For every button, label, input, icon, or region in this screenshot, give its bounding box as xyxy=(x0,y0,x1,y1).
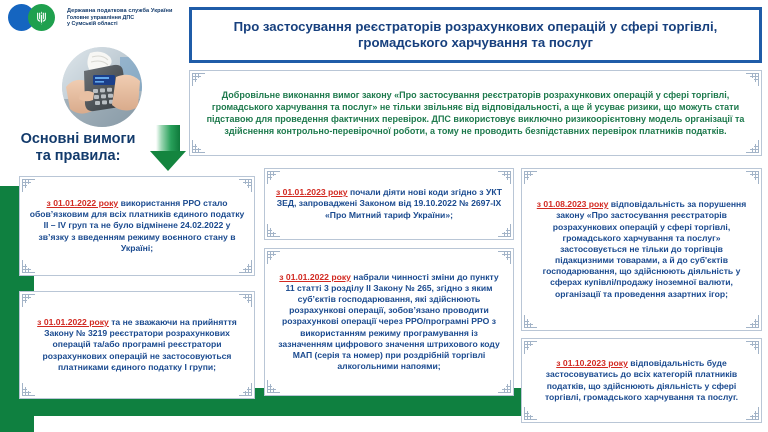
ornament-bottom-right-icon xyxy=(498,380,511,393)
banner-text: Основні вимоги та правила: xyxy=(4,131,152,164)
logo-circle-green xyxy=(28,4,55,31)
requirement-date: з 01.08.2023 року xyxy=(537,199,609,209)
requirement-card: з 01.01.2023 року почали діяти нові коди… xyxy=(264,168,514,240)
requirement-body: відповідальність за порушення закону «Пр… xyxy=(543,199,747,298)
ornament-bottom-left-icon xyxy=(524,315,537,328)
page-title: Про застосування реєстраторів розрахунко… xyxy=(189,7,762,63)
page-title-text: Про застосування реєстраторів розрахунко… xyxy=(192,19,759,52)
ornament-bottom-left-icon xyxy=(524,407,537,420)
org-line-1: Державна податкова служба України xyxy=(67,8,173,14)
masthead: Державна податкова служба України Головн… xyxy=(8,4,173,31)
intro-statement-card: Добровільне виконання вимог закону «Про … xyxy=(189,70,762,156)
requirement-date: з 01.10.2023 року xyxy=(556,358,628,368)
ornament-bottom-right-icon xyxy=(239,383,252,396)
ornament-bottom-right-icon xyxy=(239,260,252,273)
requirement-card: з 01.01.2022 року використання РРО стало… xyxy=(19,176,255,276)
green-arrow-icon xyxy=(150,125,186,171)
requirement-body: набрали чинності зміни до пункту 11 стат… xyxy=(278,272,500,371)
requirement-card: з 01.08.2023 року відповідальність за по… xyxy=(521,168,762,331)
ornament-bottom-left-icon xyxy=(267,380,280,393)
intro-statement-text: Добровільне виконання вимог закону «Про … xyxy=(204,89,747,138)
agency-name-block: Державна податкова служба України Головн… xyxy=(67,8,173,27)
ornament-bottom-right-icon xyxy=(746,407,759,420)
ornament-bottom-left-icon xyxy=(22,260,35,273)
requirement-card: з 01.10.2023 року відповідальність буде … xyxy=(521,338,762,423)
main-requirements-banner: Основні вимоги та правила: xyxy=(4,125,189,171)
arrow-head xyxy=(150,151,186,171)
requirement-date: з 01.01.2022 року xyxy=(47,198,119,208)
ornament-bottom-left-icon xyxy=(267,224,280,237)
requirement-card: з 01.01.2022 року набрали чинності зміни… xyxy=(264,248,514,396)
ornament-bottom-right-icon xyxy=(746,140,759,153)
tryzub-icon xyxy=(36,11,47,25)
banner-line-1: Основні вимоги xyxy=(4,131,152,148)
requirement-text: з 01.10.2023 року відповідальність буде … xyxy=(531,358,752,403)
requirement-text: з 01.01.2022 року набрали чинності зміни… xyxy=(274,272,504,373)
agency-logo xyxy=(8,4,62,31)
cash-register-photo xyxy=(62,47,142,127)
cash-register-illustration xyxy=(62,47,142,127)
org-line-3: у Сумській області xyxy=(67,21,173,27)
requirement-date: з 01.01.2022 року xyxy=(37,317,109,327)
requirement-text: з 01.01.2022 року використання РРО стало… xyxy=(29,198,245,254)
ornament-bottom-left-icon xyxy=(192,140,205,153)
arrow-shaft xyxy=(156,125,180,151)
requirement-text: з 01.01.2023 року почали діяти нові коди… xyxy=(274,187,504,221)
banner-line-2: та правила: xyxy=(4,148,152,165)
requirement-text: з 01.01.2022 року та не зважаючи на прий… xyxy=(29,317,245,373)
requirement-card: з 01.01.2022 року та не зважаючи на прий… xyxy=(19,291,255,399)
infographic-slide: Державна податкова служба України Головн… xyxy=(0,0,768,432)
ornament-bottom-left-icon xyxy=(22,383,35,396)
requirement-date: з 01.01.2023 року xyxy=(276,187,348,197)
requirement-text: з 01.08.2023 року відповідальність за по… xyxy=(531,199,752,300)
ornament-bottom-right-icon xyxy=(498,224,511,237)
ornament-bottom-right-icon xyxy=(746,315,759,328)
requirement-date: з 01.01.2022 року xyxy=(279,272,351,282)
